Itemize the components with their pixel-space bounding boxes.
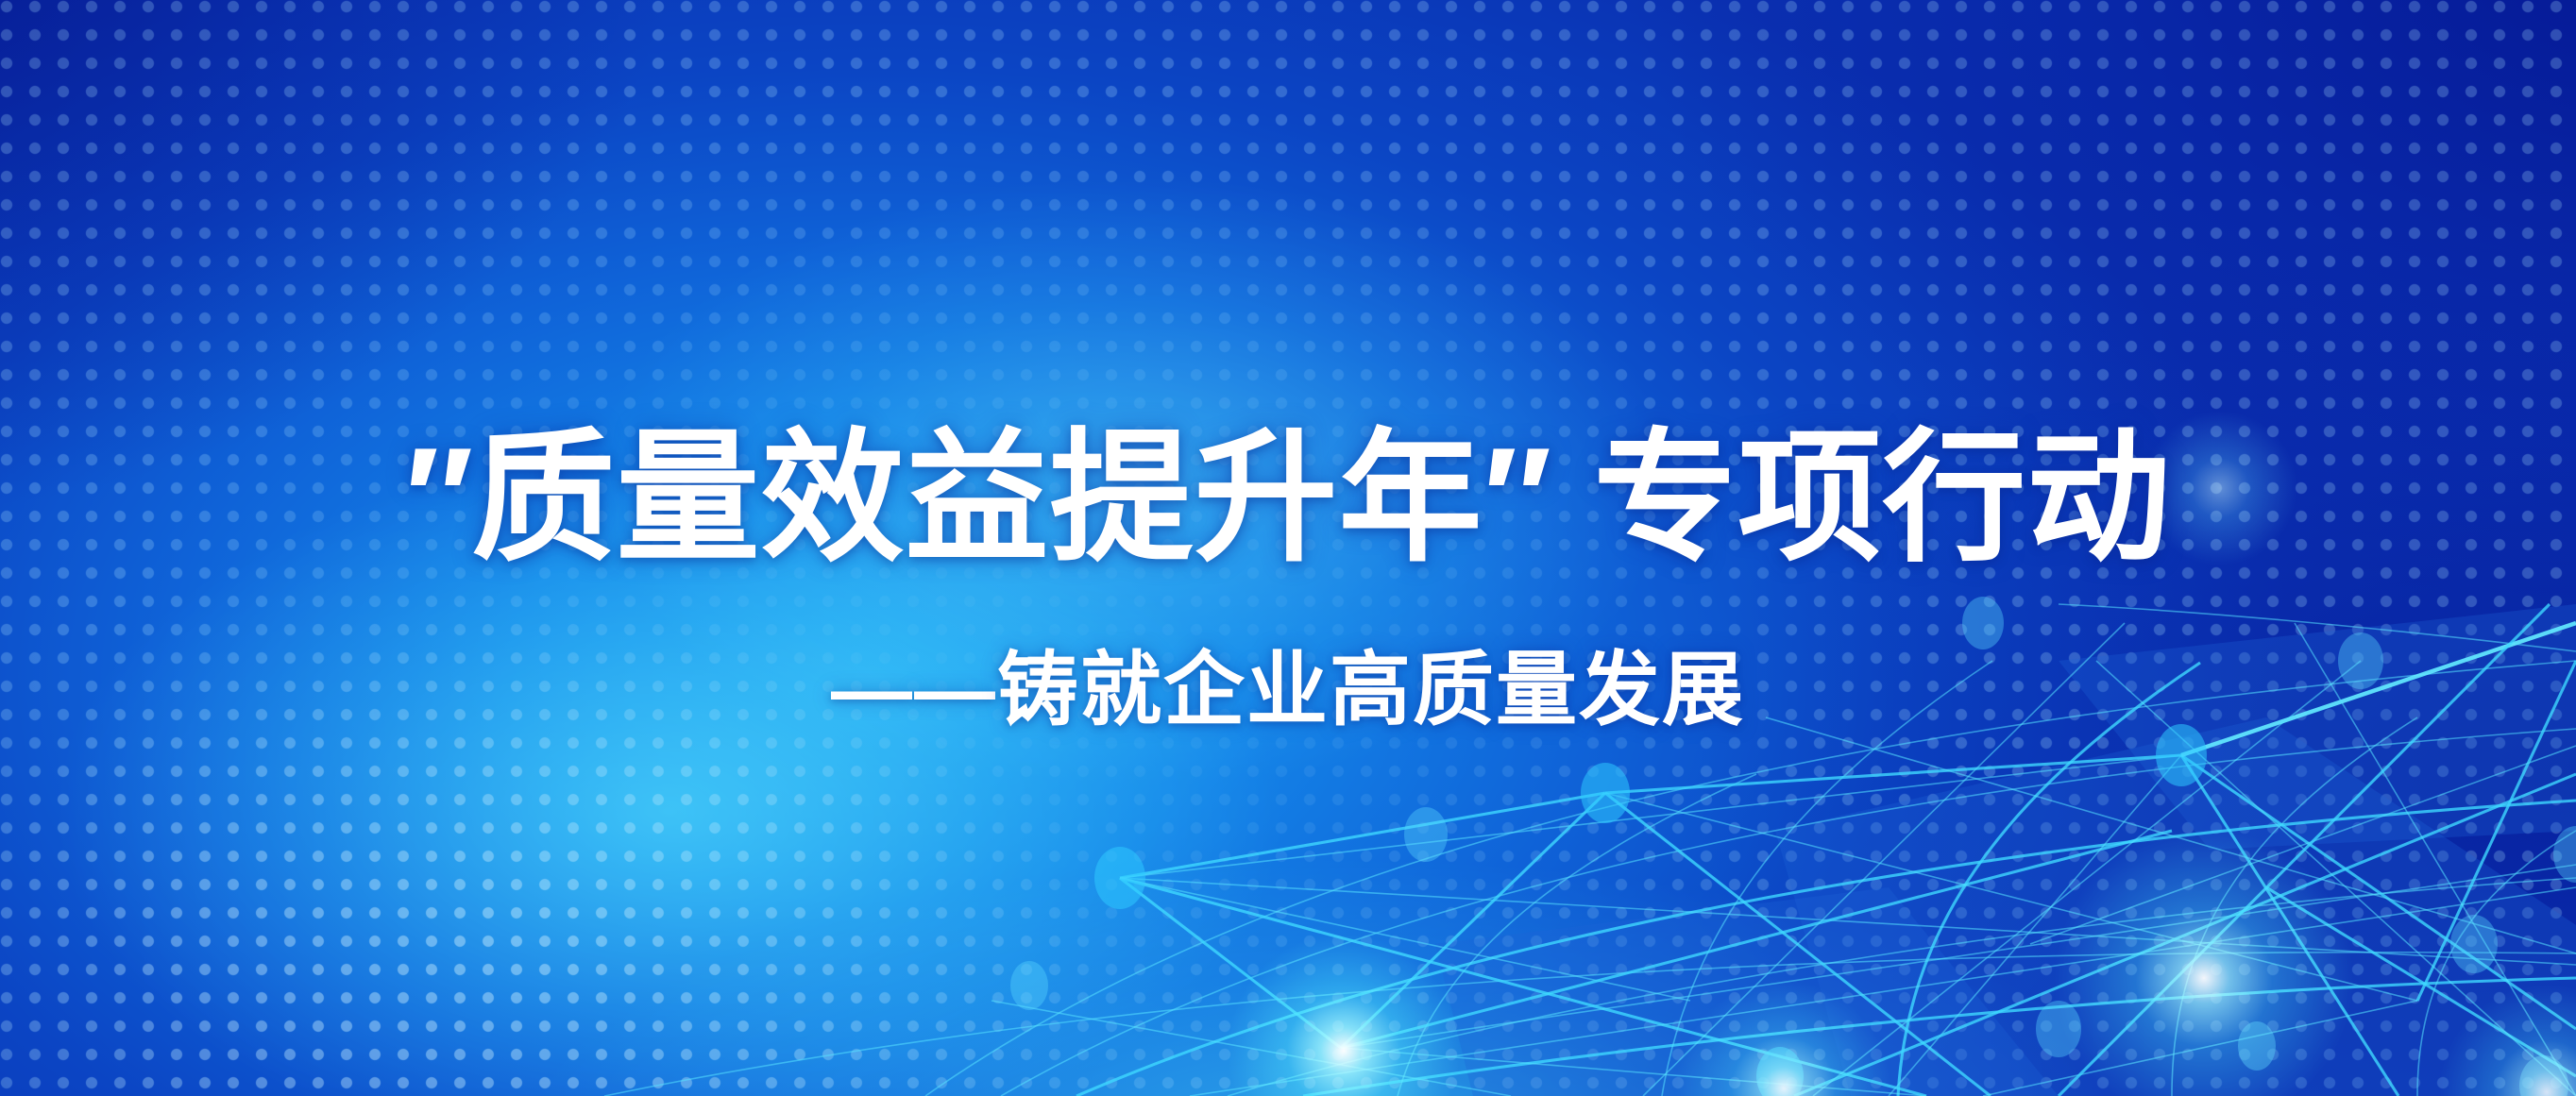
- subtitle-text: 铸就企业高质量发展: [997, 645, 1745, 735]
- close-quote-mark: ″: [1483, 418, 1551, 579]
- promo-banner: ″质量效益提升年″专项行动 ——铸就企业高质量发展: [0, 0, 2576, 1096]
- subtitle-em-dash: ——: [831, 645, 997, 735]
- title-quoted-phrase: 质量效益提升年: [472, 418, 1483, 579]
- banner-text-block: ″质量效益提升年″专项行动 ——铸就企业高质量发展: [0, 0, 2576, 1096]
- open-quote-mark: ″: [405, 418, 472, 579]
- page-subtitle: ——铸就企业高质量发展: [0, 649, 2576, 731]
- title-trailing-phrase: 专项行动: [1593, 418, 2171, 579]
- page-title: ″质量效益提升年″专项行动: [0, 427, 2576, 570]
